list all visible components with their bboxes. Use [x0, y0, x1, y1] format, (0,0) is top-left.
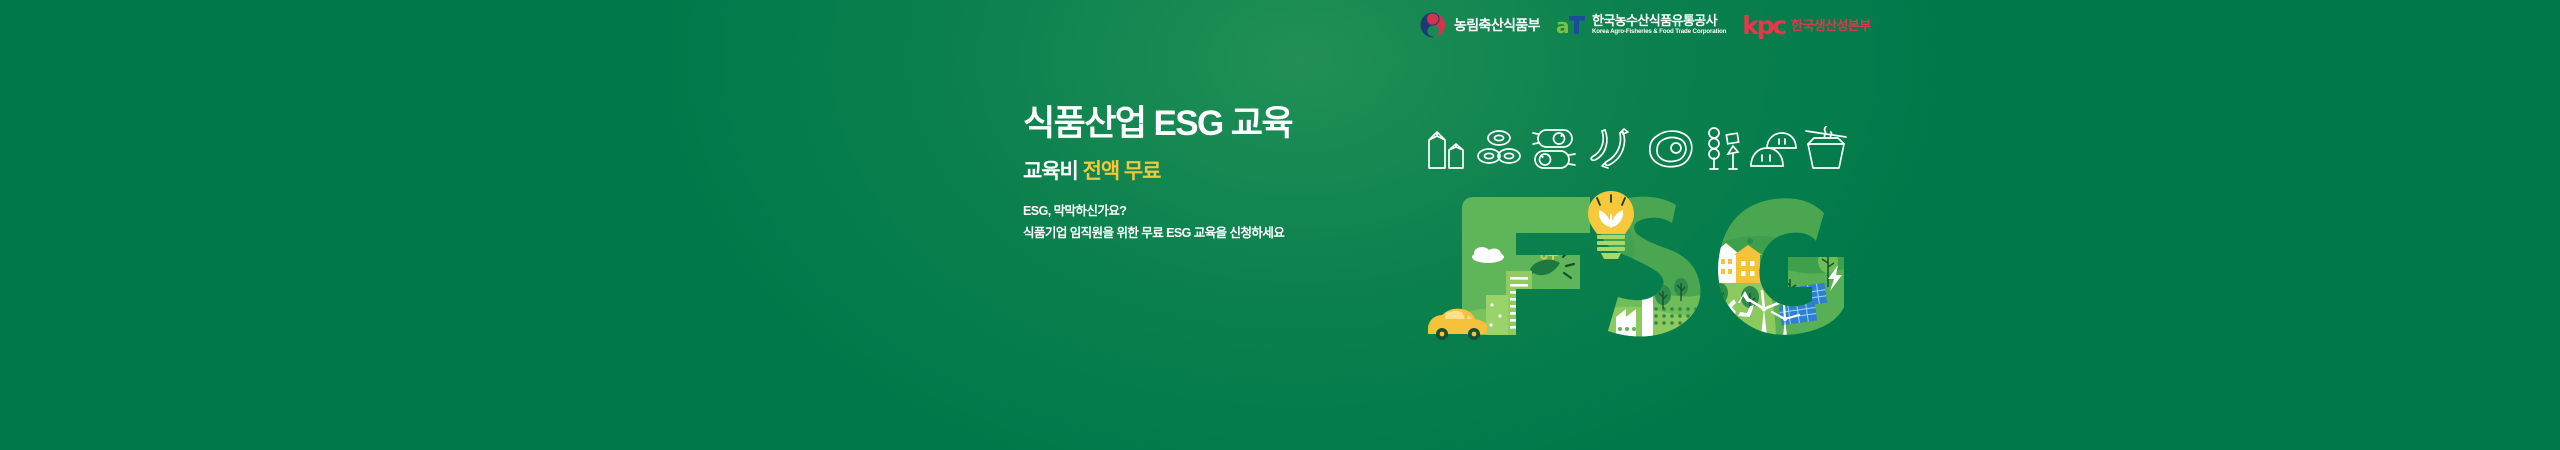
- banner-copy-block: 식품산업 ESG 교육 교육비전액 무료 ESG, 막막하신가요? 식품기업 임…: [1023, 103, 1443, 244]
- esg-education-banner: 농림축산식품부 a 한국농수산식품유통공사 Korea Agro-Fisheri…: [0, 0, 2560, 450]
- logo-at-english-name: Korea Agro-Fisheries & Food Trade Corpor…: [1592, 28, 1726, 35]
- tree-icon: [1712, 283, 1728, 309]
- banana-icon: [1587, 126, 1639, 172]
- page-title: 식품산업 ESG 교육: [1023, 103, 1443, 144]
- canned-meat-icon: [1529, 126, 1581, 172]
- factory-icon: [1616, 291, 1653, 337]
- office-building-icon: [1506, 271, 1532, 337]
- logo-at: a 한국농수산식품유통공사 Korea Agro-Fisheries & Foo…: [1556, 8, 1726, 42]
- food-icon-row: [1425, 126, 1849, 172]
- logo-mafra: 농림축산식품부: [1418, 8, 1540, 42]
- esg-letter-E: [1428, 197, 1590, 340]
- tree-icon: [1780, 271, 1800, 309]
- description-line-1: ESG, 막막하신가요?: [1023, 201, 1443, 223]
- korea-government-taegeuk-icon: [1418, 10, 1448, 40]
- sushi-roll-icon: [1475, 126, 1523, 172]
- tuition-accent-free: 전액 무료: [1083, 160, 1161, 183]
- esg-letter-G: [1712, 198, 1850, 345]
- banner-description: ESG, 막막하신가요? 식품기업 임직원을 위한 무료 ESG 교육을 신청하…: [1023, 201, 1443, 244]
- tree-icon: [1566, 303, 1590, 337]
- esg-scene-svg: [1420, 185, 1880, 380]
- logo-kpc: kpc 한국생산성본부: [1742, 8, 1870, 42]
- description-line-2: 식품기업 임직원을 위한 무료 ESG 교육을 신청하세요: [1023, 223, 1443, 245]
- lunchbox-icon: [1803, 126, 1849, 172]
- logo-kpc-korean-name: 한국생산성본부: [1791, 19, 1871, 32]
- logo-mafra-korean-name: 농림축산식품부: [1454, 18, 1540, 33]
- logo-mafra-text: 농림축산식품부: [1454, 18, 1540, 33]
- esg-scene-illustration: [1420, 185, 1880, 380]
- dumpling-icon: [1749, 126, 1797, 172]
- logo-at-text: 한국농수산식품유통공사 Korea Agro-Fisheries & Food …: [1592, 14, 1726, 35]
- skewer-icon: [1703, 126, 1743, 172]
- kpc-wordmark-icon: kpc: [1742, 13, 1785, 38]
- tuition-subtitle: 교육비전액 무료: [1023, 159, 1443, 184]
- steak-icon: [1645, 126, 1697, 172]
- sponsor-logo-strip: 농림축산식품부 a 한국농수산식품유통공사 Korea Agro-Fisheri…: [1418, 8, 1871, 42]
- at-wordmark-icon: a: [1556, 12, 1586, 38]
- svg-text:a: a: [1556, 14, 1570, 38]
- tuition-label: 교육비: [1023, 160, 1078, 183]
- milk-carton-icon: [1425, 126, 1469, 172]
- logo-at-korean-name: 한국농수산식품유통공사: [1592, 14, 1726, 28]
